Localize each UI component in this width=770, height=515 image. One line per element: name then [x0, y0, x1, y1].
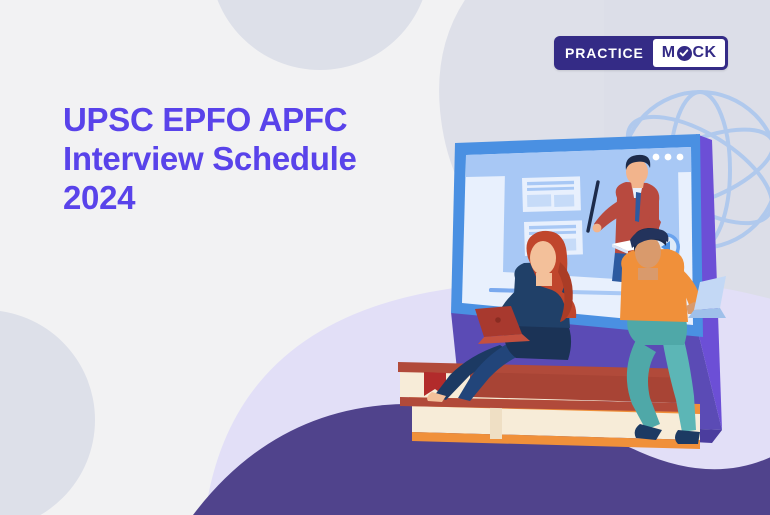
check-icon — [677, 46, 692, 61]
promo-banner: UPSC EPFO APFC Interview Schedule 2024 P… — [0, 0, 770, 515]
page-title: UPSC EPFO APFC Interview Schedule 2024 — [63, 100, 483, 217]
logo-mock-m: M — [662, 45, 676, 61]
background-decorations — [0, 0, 770, 515]
logo-practice-text: PRACTICE — [557, 39, 653, 67]
logo-mock-ck: CK — [693, 45, 717, 61]
practicemock-logo[interactable]: PRACTICE M CK — [554, 36, 728, 70]
logo-mock-wordmark: M CK — [653, 39, 726, 67]
